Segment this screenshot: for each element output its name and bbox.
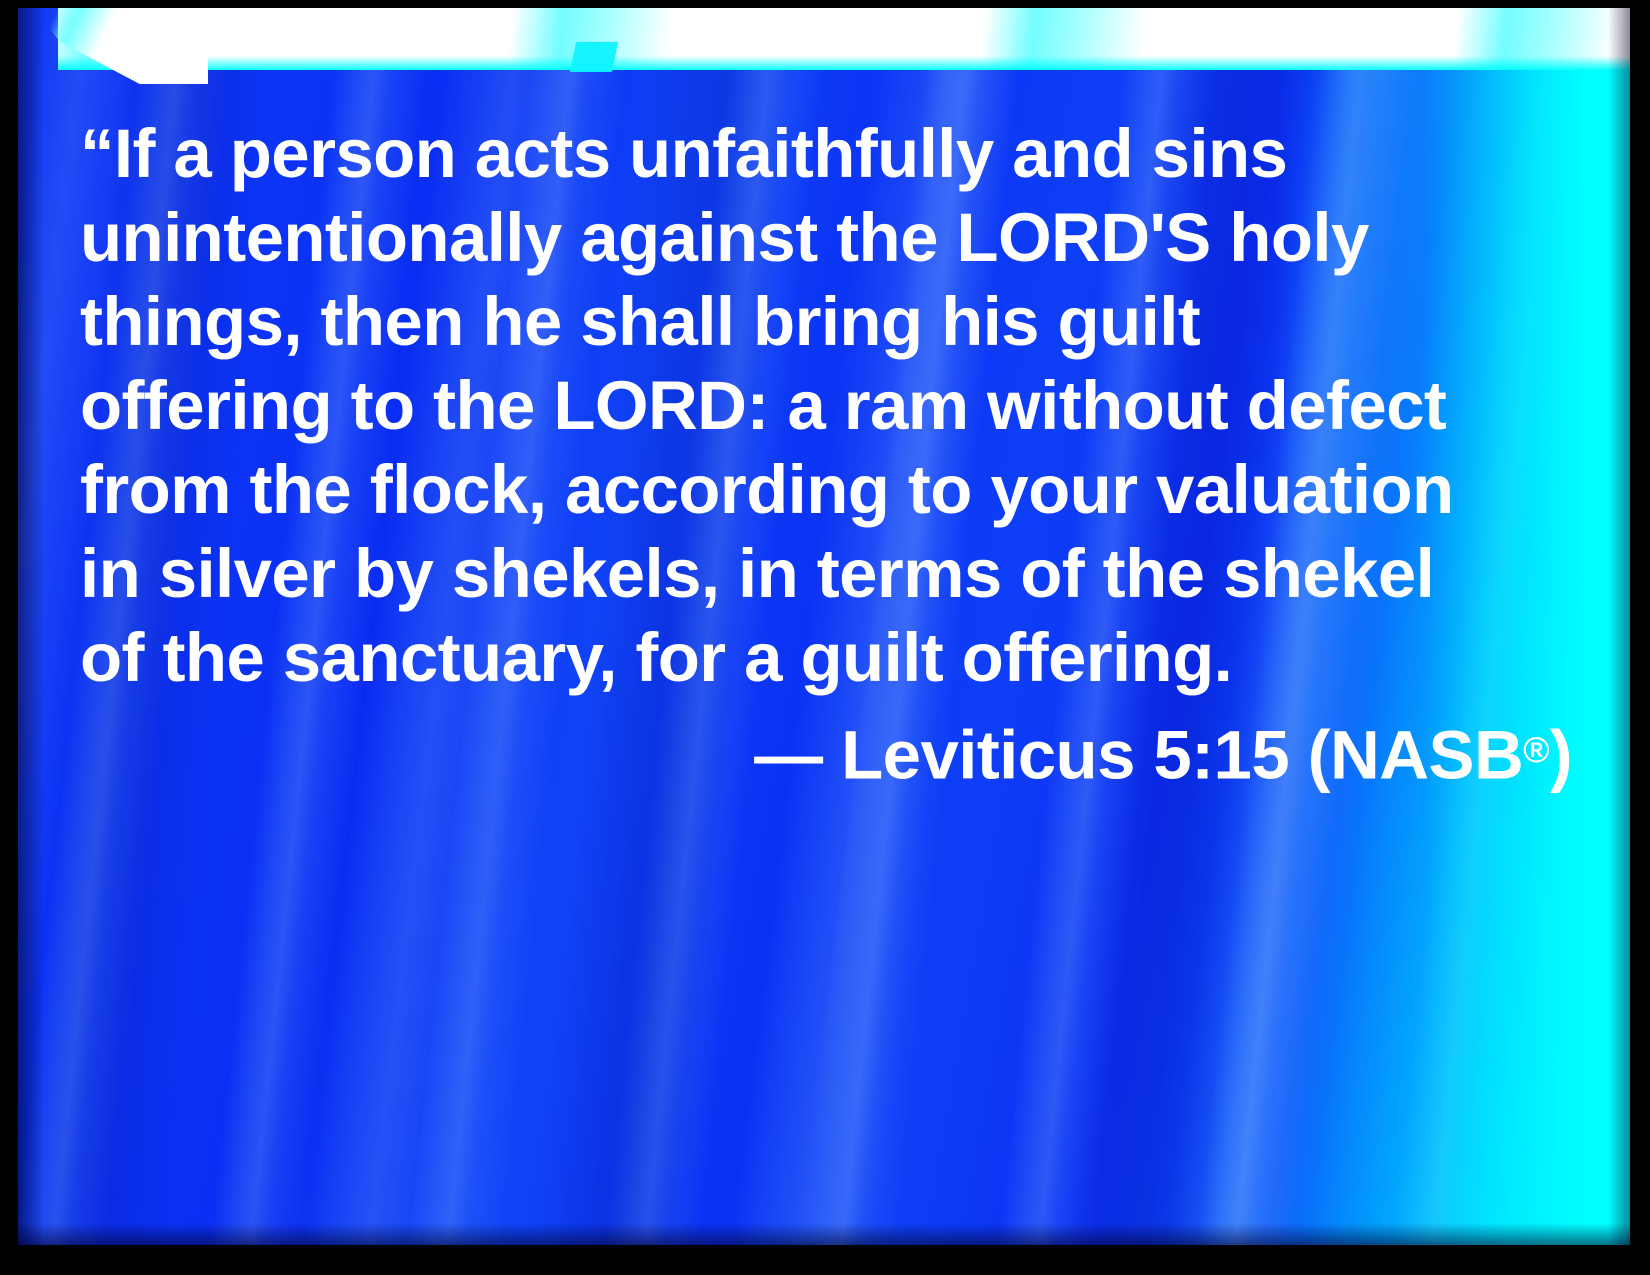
attribution-reference: — Leviticus 5:15 (NASB xyxy=(754,717,1523,794)
verse-line-1: “If a person acts unfaithfully and sins xyxy=(80,112,1586,196)
verse-card: “If a person acts unfaithfully and sins … xyxy=(0,0,1650,1275)
gradient-background: “If a person acts unfaithfully and sins … xyxy=(18,8,1630,1245)
verse-line-7: of the sanctuary, for a guilt offering. xyxy=(80,616,1586,700)
header-cyan-blip xyxy=(570,42,618,72)
verse-attribution: — Leviticus 5:15 (NASB®) xyxy=(80,708,1586,792)
verse-text-block: “If a person acts unfaithfully and sins … xyxy=(80,112,1586,792)
header-band-underglow xyxy=(58,56,1630,70)
verse-line-2: unintentionally against the LORD'S holy xyxy=(80,196,1586,280)
registered-trademark-icon: ® xyxy=(1523,730,1549,770)
verse-line-5: from the flock, according to your valuat… xyxy=(80,448,1586,532)
attribution-close-paren: ) xyxy=(1550,717,1572,794)
verse-line-6: in silver by shekels, in terms of the sh… xyxy=(80,532,1586,616)
verse-line-4: offering to the LORD: a ram without defe… xyxy=(80,364,1586,448)
verse-line-3: things, then he shall bring his guilt xyxy=(80,280,1586,364)
header-white-band xyxy=(58,8,1630,70)
